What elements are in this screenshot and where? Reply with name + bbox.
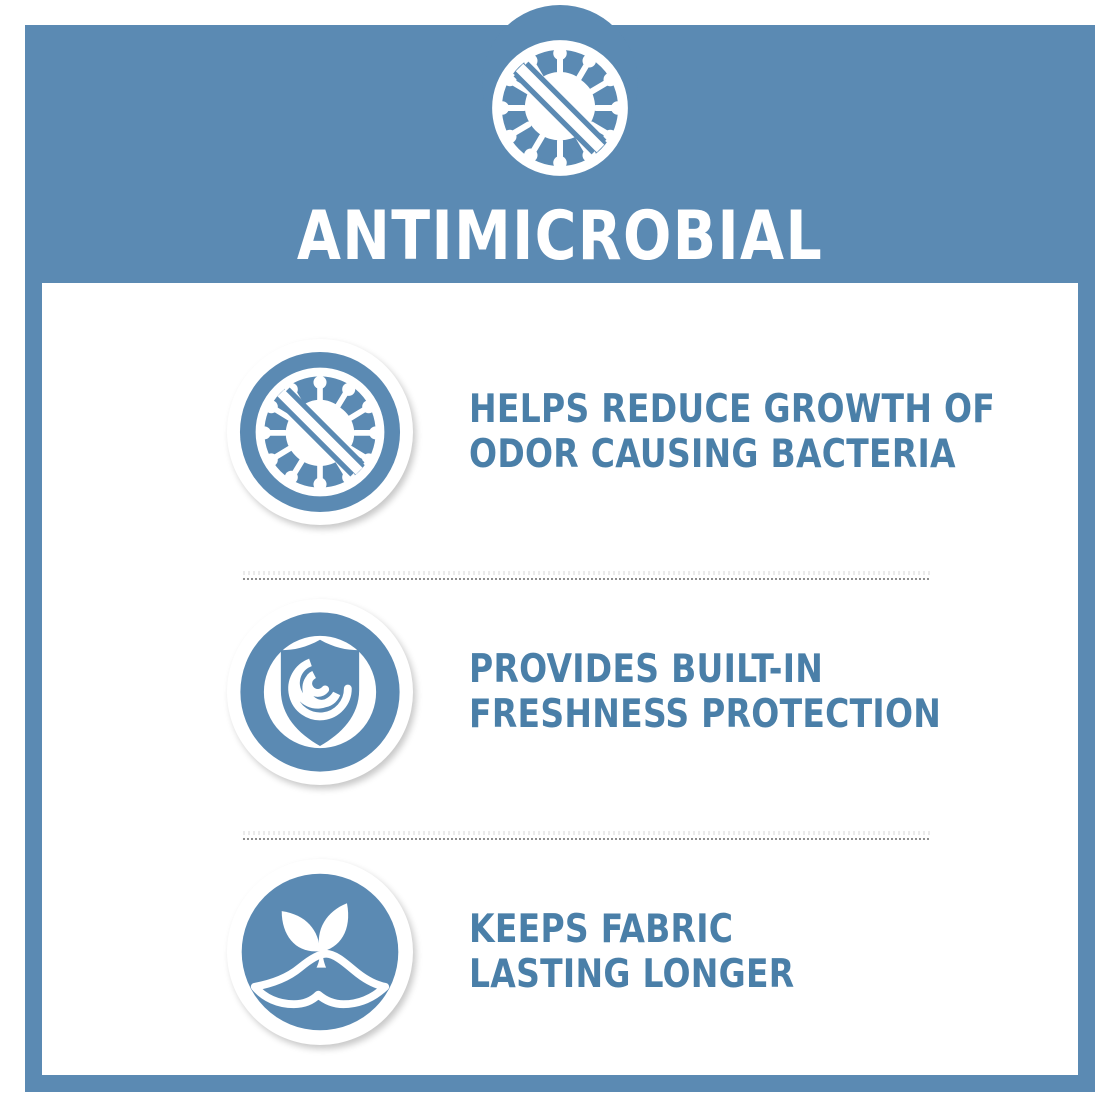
feature-line-2: FRESHNESS PROTECTION <box>469 692 941 737</box>
feature-line-1: KEEPS FABRIC <box>469 907 795 952</box>
shield-swirl-badge-icon <box>227 599 413 785</box>
antimicrobial-infographic: ANTIMICROBIAL <box>0 0 1120 1120</box>
feature-divider <box>243 578 930 580</box>
feature-text: PROVIDES BUILT-IN FRESHNESS PROTECTION <box>469 647 941 737</box>
no-virus-badge-icon <box>227 339 413 525</box>
header-band: ANTIMICROBIAL <box>25 25 1095 283</box>
content-sheet: HELPS REDUCE GROWTH OF ODOR CAUSING BACT… <box>42 283 1078 1075</box>
feature-divider <box>243 838 930 840</box>
feature-line-1: HELPS REDUCE GROWTH OF <box>469 387 995 432</box>
blue-framed-card: ANTIMICROBIAL <box>25 25 1095 1092</box>
feature-line-1: PROVIDES BUILT-IN <box>469 647 941 692</box>
feature-text: HELPS REDUCE GROWTH OF ODOR CAUSING BACT… <box>469 387 995 477</box>
feature-line-2: LASTING LONGER <box>469 952 795 997</box>
divider-highlight <box>243 571 930 575</box>
page-title: ANTIMICROBIAL <box>62 203 1057 271</box>
feature-line-2: ODOR CAUSING BACTERIA <box>469 432 995 477</box>
feature-row: KEEPS FABRIC LASTING LONGER <box>42 838 1078 1066</box>
feature-row: PROVIDES BUILT-IN FRESHNESS PROTECTION <box>42 578 1078 806</box>
feature-list: HELPS REDUCE GROWTH OF ODOR CAUSING BACT… <box>42 283 1078 1075</box>
sprout-leaf-badge-icon <box>227 859 413 1045</box>
feature-text: KEEPS FABRIC LASTING LONGER <box>469 907 795 997</box>
divider-highlight <box>243 831 930 835</box>
no-virus-icon <box>485 33 635 183</box>
feature-row: HELPS REDUCE GROWTH OF ODOR CAUSING BACT… <box>42 318 1078 546</box>
